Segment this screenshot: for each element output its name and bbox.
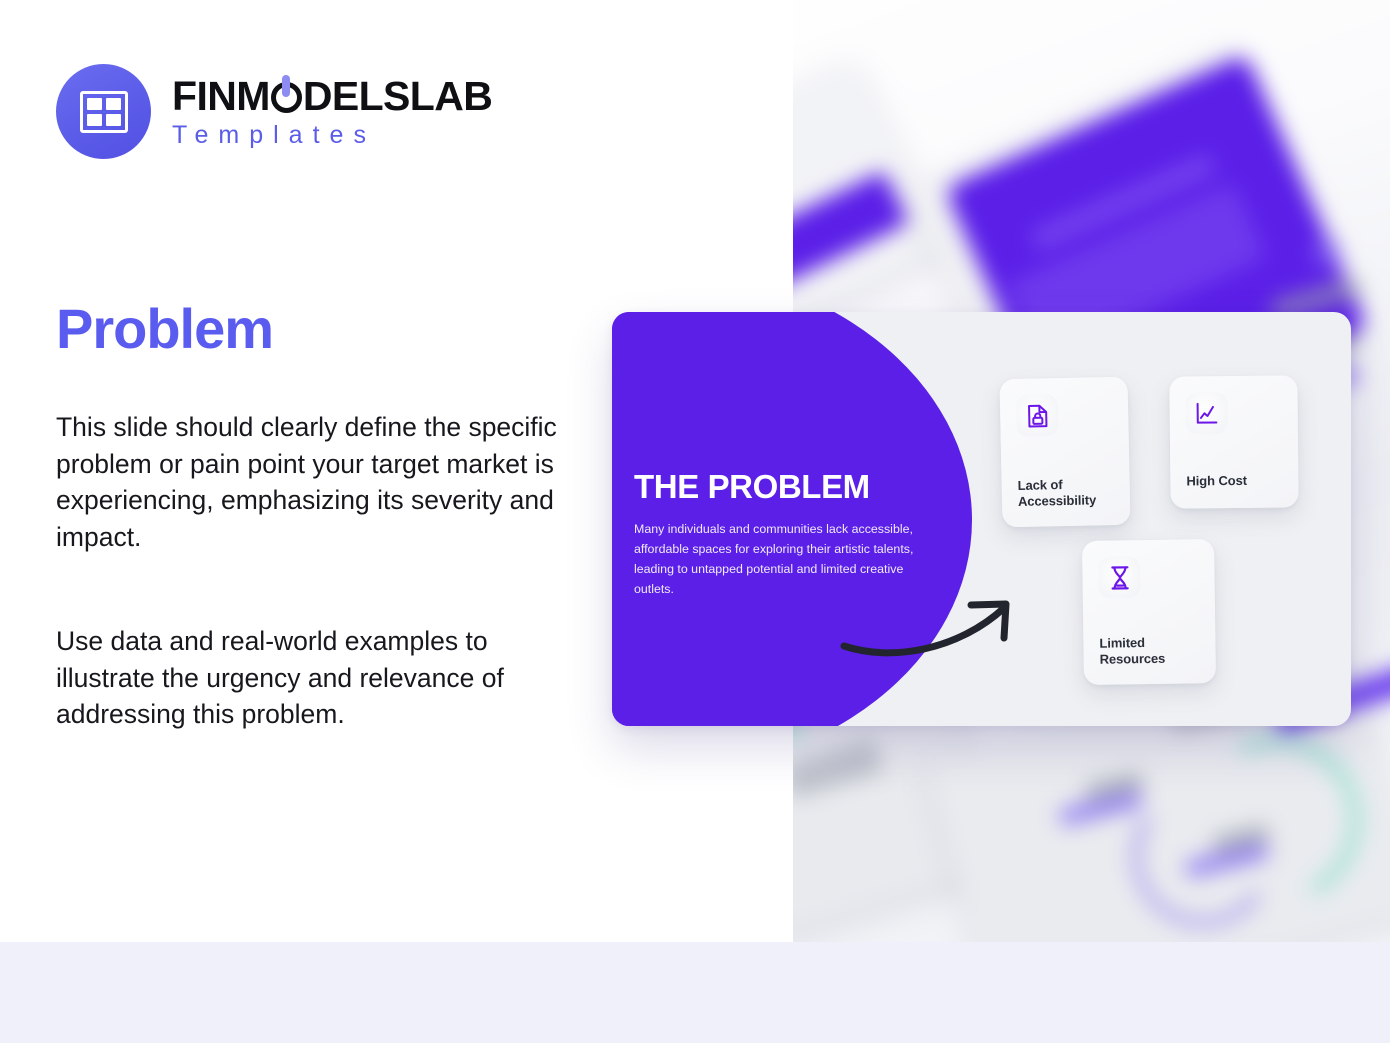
brand-wordmark: FINM DELSLAB Templates	[172, 76, 492, 148]
slide-page: FINM DELSLAB Templates Problem This slid…	[0, 0, 1390, 1043]
feature-tile-label: High Cost	[1186, 473, 1288, 491]
hourglass-icon	[1098, 556, 1141, 599]
slide-preview-card[interactable]: THE PROBLEM Many individuals and communi…	[612, 312, 1351, 726]
document-lock-icon	[1016, 394, 1059, 437]
description-paragraph-2: Use data and real-world examples to illu…	[56, 623, 561, 733]
card-body-text: Many individuals and communities lack ac…	[634, 519, 930, 599]
grid-icon	[80, 91, 128, 133]
brand-name: FINM DELSLAB	[172, 76, 492, 117]
card-title: THE PROBLEM	[634, 470, 930, 505]
brand-subtitle: Templates	[172, 123, 492, 148]
brand-logo-mark	[56, 64, 151, 159]
power-button-icon	[271, 82, 302, 113]
feature-tile-group: Lack of Accessibility High Cost	[990, 364, 1340, 726]
description-paragraph-1: This slide should clearly define the spe…	[56, 409, 561, 555]
bg-purple-dot-right	[1313, 240, 1339, 266]
line-chart-icon	[1185, 392, 1227, 434]
feature-tile-label: Lack of Accessibility	[1018, 476, 1121, 511]
feature-tile-limited-resources[interactable]: Limited Resources	[1082, 539, 1216, 685]
feature-tile-lack-of-accessibility[interactable]: Lack of Accessibility	[999, 377, 1130, 528]
curved-arrow-icon	[840, 592, 1030, 663]
feature-tile-label: Limited Resources	[1099, 634, 1205, 669]
card-text-block: THE PROBLEM Many individuals and communi…	[634, 470, 930, 599]
brand-name-part1: FINM	[172, 76, 270, 117]
feature-tile-high-cost[interactable]: High Cost	[1169, 375, 1298, 508]
brand-name-part2: DELSLAB	[303, 76, 492, 117]
page-title: Problem	[56, 301, 273, 357]
bottom-band	[0, 942, 1390, 1043]
brand-lockup: FINM DELSLAB Templates	[56, 64, 492, 159]
